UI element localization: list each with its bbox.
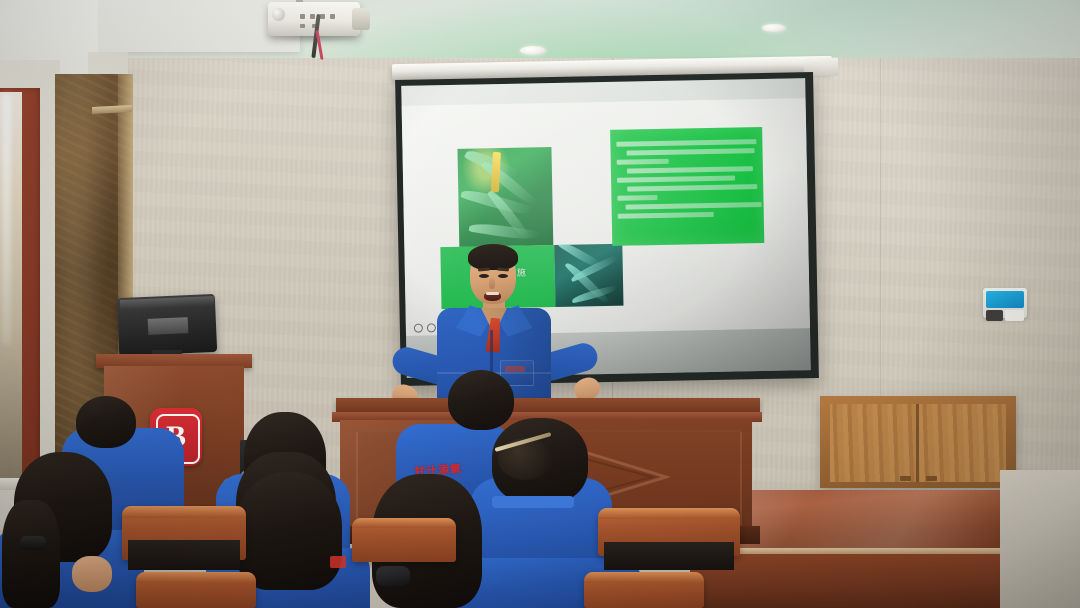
audience-member-5-ponytail: [2, 500, 60, 608]
chair-top-rail: [584, 572, 704, 583]
audience-member-6-head: [236, 472, 342, 590]
chair-shadow-panel: [128, 540, 240, 570]
chair-shadow-panel: [604, 542, 734, 570]
monitor-brand-label: [148, 317, 189, 335]
presenter-nose: [489, 278, 495, 289]
floor-right: [1000, 470, 1080, 608]
ac-panel-switch[interactable]: [1005, 310, 1024, 321]
conference-room-photo: 清洁生产措施: [0, 0, 1080, 608]
projector-vent: [320, 14, 325, 19]
presenter-hair: [468, 244, 518, 270]
cabinet-handle[interactable]: [926, 476, 937, 481]
chair-top-rail: [598, 508, 740, 519]
projector-focus-knob-icon[interactable]: [272, 8, 285, 21]
projector-vent: [330, 14, 335, 19]
presenter-eye-left: [479, 274, 489, 278]
sleeve-logo: [330, 556, 346, 568]
presenter-teeth: [486, 292, 499, 295]
audience-member-1-head: [76, 396, 136, 448]
audience-member-3-head: [448, 370, 514, 430]
downlight-icon: [762, 24, 786, 32]
projector-vent: [310, 14, 315, 19]
audience-member-5-hand: [72, 556, 112, 592]
presenter-eye-right: [498, 274, 508, 278]
chair-top-rail: [136, 572, 256, 583]
projector-vent: [300, 24, 305, 28]
projector-vent: [300, 14, 305, 19]
chair-top-rail: [352, 518, 456, 528]
chair-top-rail: [122, 506, 246, 518]
projector-lens-icon: [352, 8, 370, 30]
window-glare: [2, 95, 11, 345]
ac-panel-sensor: [986, 310, 1003, 321]
downlight-icon: [520, 46, 546, 55]
audience-member-4-collar: [492, 496, 574, 508]
cabinet-handle[interactable]: [900, 476, 911, 481]
hair-scrunchie-icon: [376, 566, 410, 586]
hair-tie-icon: [20, 536, 46, 550]
ac-panel-screen: [986, 291, 1024, 308]
wall-cabinet-door-split: [916, 404, 919, 482]
